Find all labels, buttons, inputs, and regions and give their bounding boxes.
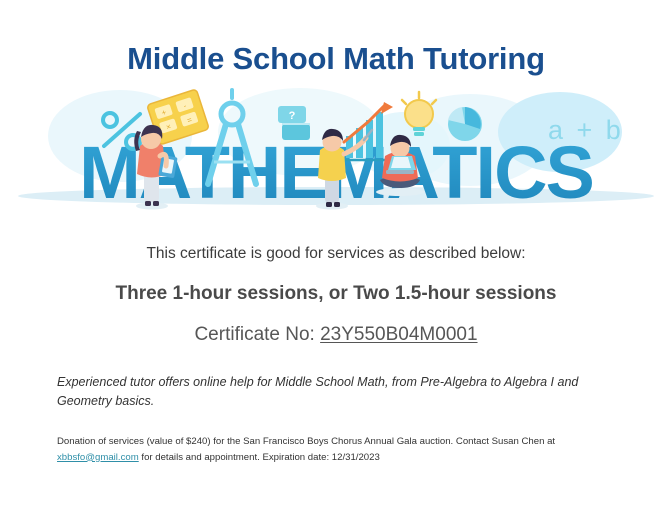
certificate-number-row: Certificate No: 23Y550B04M0001 <box>0 324 672 346</box>
books-icon: ? <box>278 106 310 140</box>
fineprint-before-email: Donation of services (value of $240) for… <box>57 436 555 447</box>
formula-a-plus-b: a + b <box>548 115 624 145</box>
page-title: Middle School Math Tutoring <box>0 0 672 76</box>
mathematics-illustration-banner: MATHEMATICS + - × = <box>0 84 672 219</box>
fineprint-after-email: for details and appointment. Expiration … <box>139 452 380 463</box>
lead-text: This certificate is good for services as… <box>0 245 672 263</box>
banner-artwork: MATHEMATICS + - × = <box>0 84 672 219</box>
offer-text: Three 1-hour sessions, or Two 1.5-hour s… <box>0 283 672 305</box>
certificate-card: Middle School Math Tutoring <box>0 0 672 510</box>
fineprint-block: Donation of services (value of $240) for… <box>57 434 620 466</box>
certificate-number-label: Certificate No: <box>194 324 314 345</box>
certificate-number-value: 23Y550B04M0001 <box>320 324 477 345</box>
contact-email-link[interactable]: xbbsfo@gmail.com <box>57 452 139 463</box>
service-description: Experienced tutor offers online help for… <box>57 373 620 412</box>
pie-chart-icon <box>448 107 482 141</box>
question-mark-glyph: ? <box>289 110 296 122</box>
